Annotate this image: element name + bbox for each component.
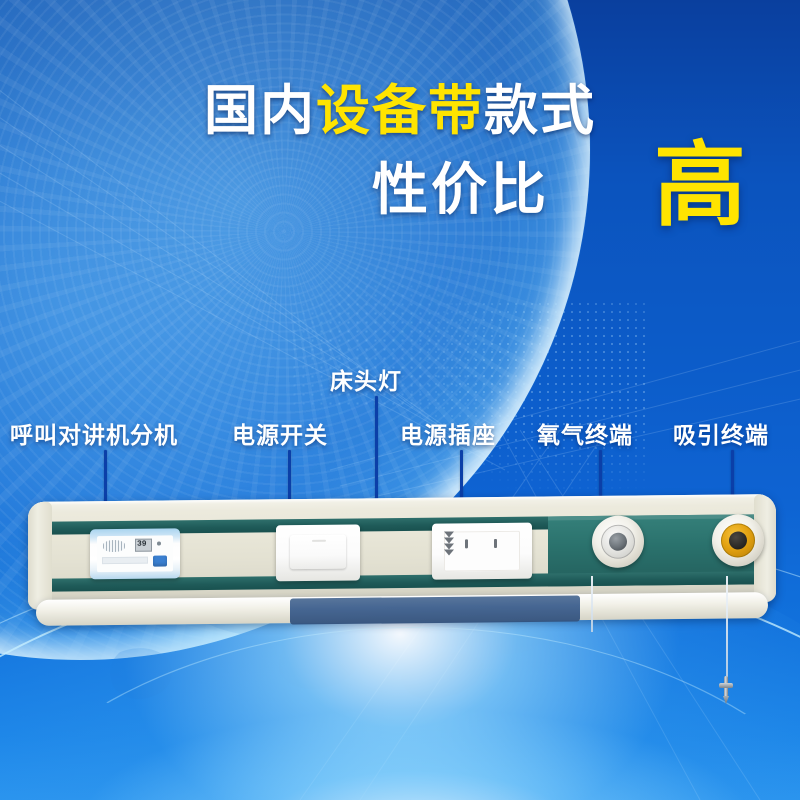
suction-outlet-device[interactable] <box>712 514 764 567</box>
nurse-call-label-strip <box>102 557 148 564</box>
promo-banner: 国内设备带款式 性价比 高 呼叫对讲机分机 电源开关 床头灯 电源插座 氧气终端… <box>0 0 800 800</box>
socket-tri-slot-4 <box>444 549 454 555</box>
headline-big-word: 高 <box>654 140 746 232</box>
callout-label-nurse-call: 呼叫对讲机分机 <box>10 416 178 450</box>
suction-outlet-port <box>729 531 747 549</box>
suction-plug-icon <box>719 676 733 702</box>
panel-end-cap-left <box>28 502 52 610</box>
callout-label-power-socket: 电源插座 <box>400 416 496 450</box>
nurse-call-faceplate: 39 <box>97 535 173 572</box>
nurse-call-intercom-device[interactable]: 39 <box>90 528 180 579</box>
rocker-switch-icon[interactable] <box>290 535 346 570</box>
nurse-call-button[interactable] <box>153 555 167 566</box>
halftone-dots-left <box>290 255 520 405</box>
power-switch-device[interactable] <box>276 524 360 581</box>
status-led-icon <box>157 542 161 546</box>
panel-rail-blue-section <box>290 595 580 624</box>
plug-cross <box>719 683 733 688</box>
speaker-grill-icon <box>103 540 125 552</box>
power-socket-device[interactable] <box>432 523 532 580</box>
callout-label-suction: 吸引终端 <box>673 416 769 450</box>
callout-label-power-switch: 电源开关 <box>232 416 328 450</box>
callout-label-oxygen: 氧气终端 <box>537 416 633 450</box>
socket-pin-slot-2 <box>494 539 497 548</box>
suction-cord <box>726 576 728 678</box>
oxygen-cord <box>591 576 593 632</box>
socket-faceplate <box>444 531 520 572</box>
oxygen-outlet-device[interactable] <box>592 515 644 568</box>
callout-label-bed-lamp: 床头灯 <box>330 362 402 396</box>
headline-line-2: 性价比 <box>372 160 549 220</box>
nurse-call-display: 39 <box>135 539 152 552</box>
socket-pin-slot-1 <box>465 539 468 548</box>
bed-head-unit-panel: 39 <box>28 498 776 626</box>
nurse-call-display-value: 39 <box>137 540 147 550</box>
oxygen-outlet-port <box>609 533 627 551</box>
